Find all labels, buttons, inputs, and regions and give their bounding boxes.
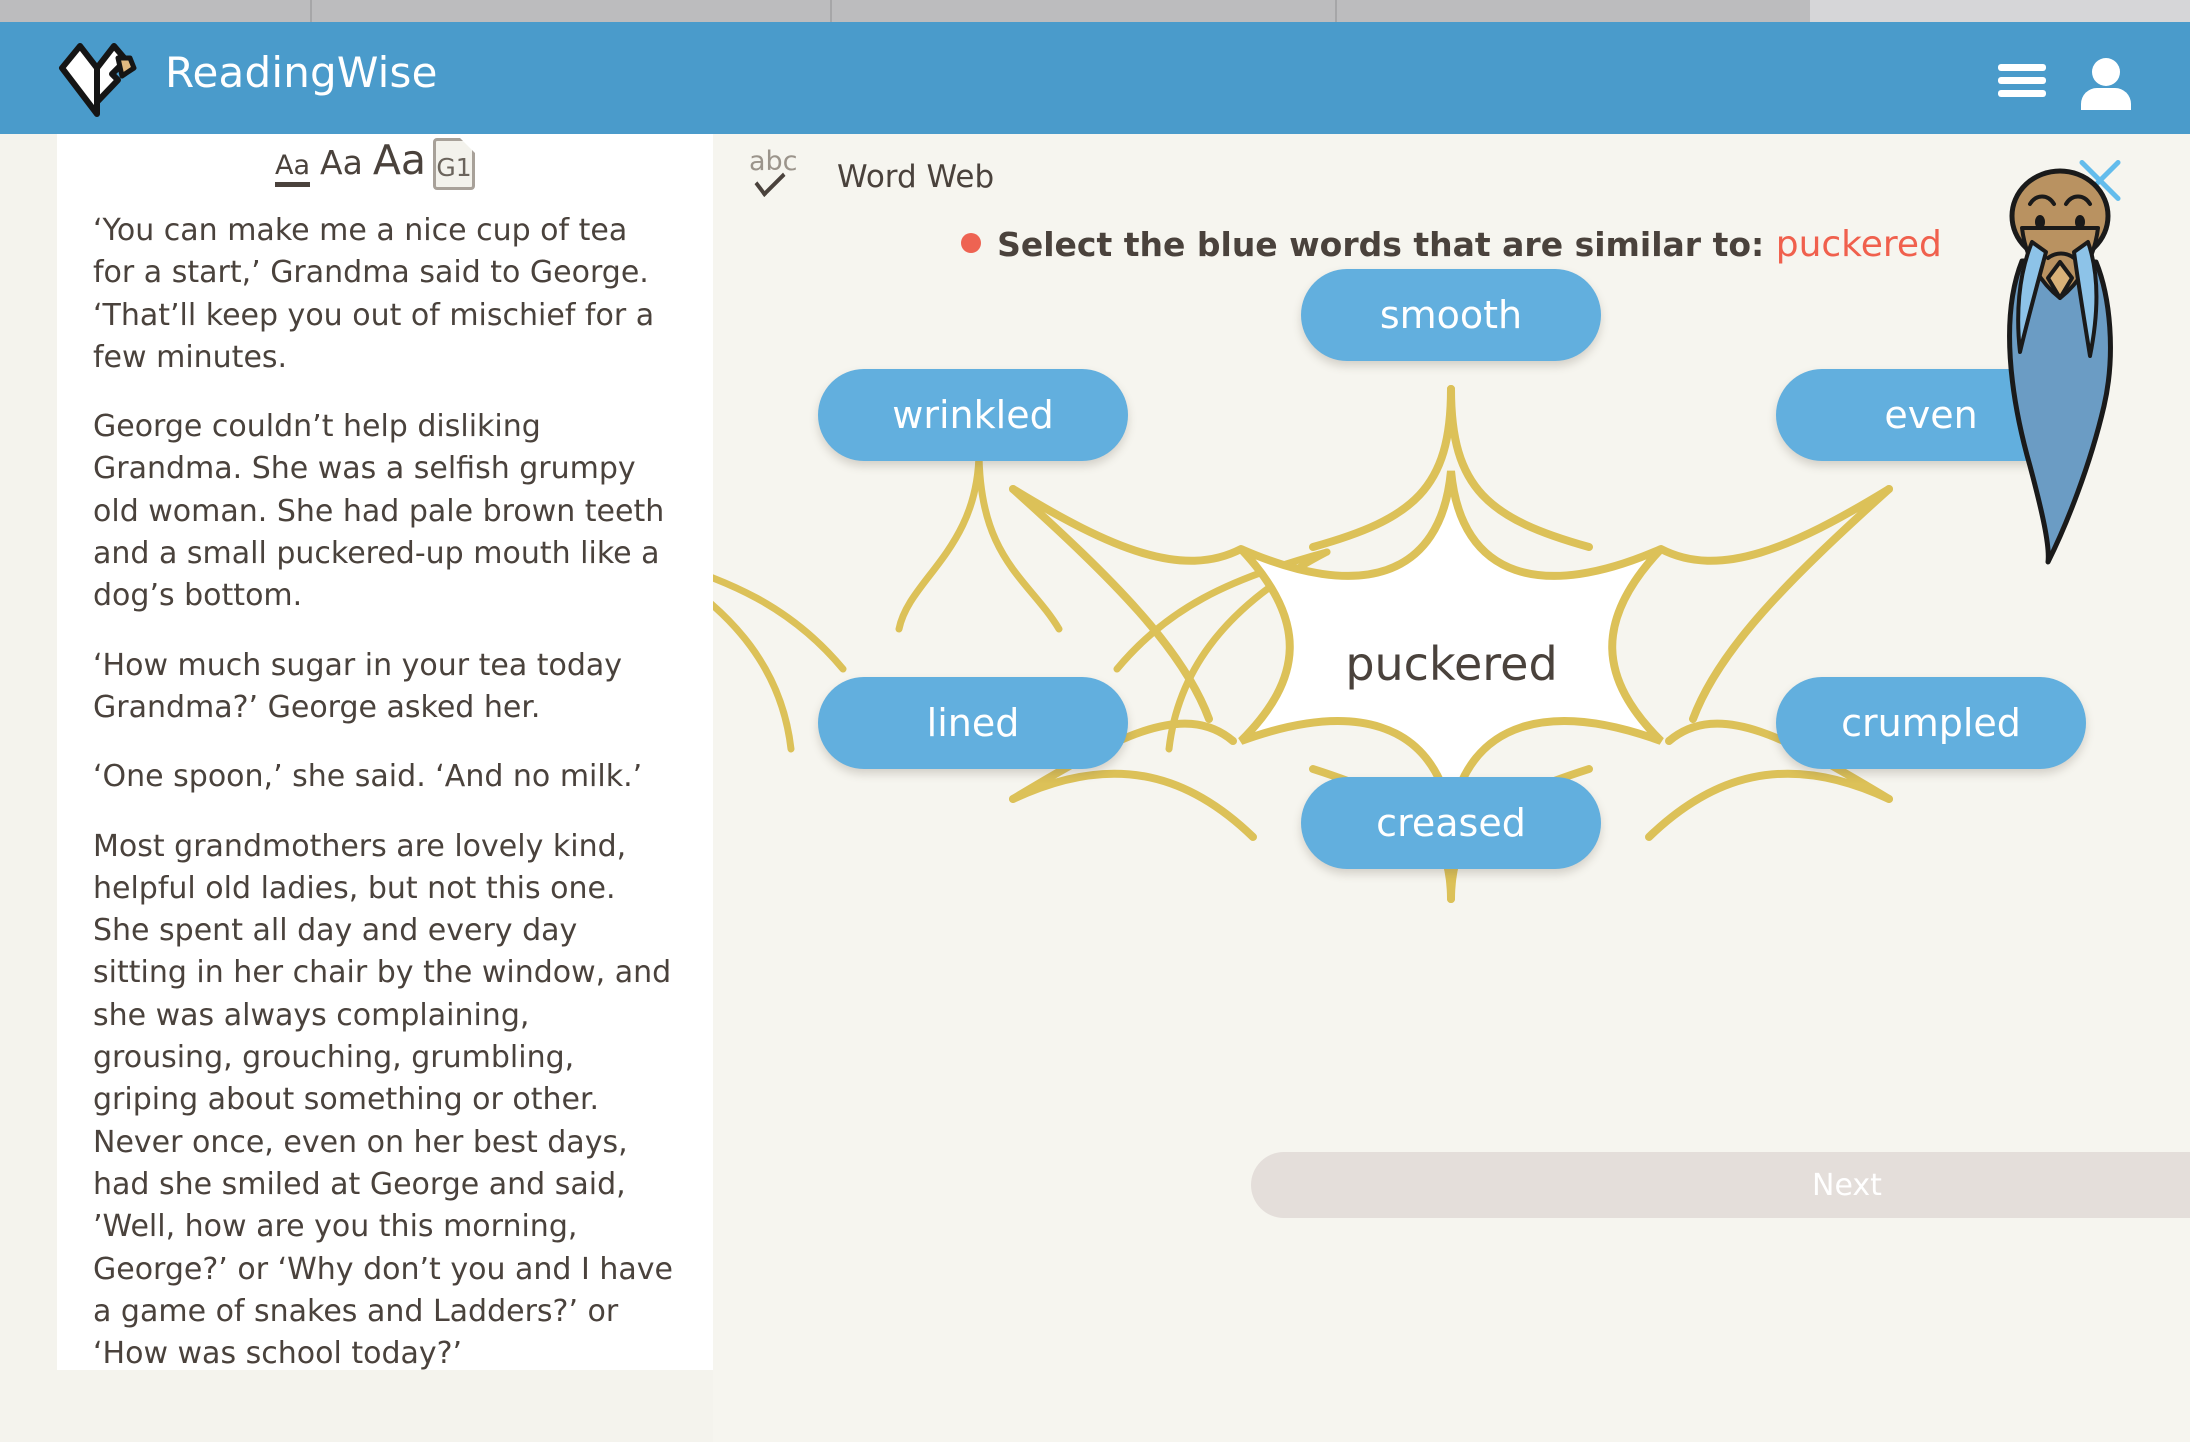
word-web-star (713, 249, 2190, 1009)
activity-header: abc Word Web (749, 146, 994, 208)
story-text: ‘You can make me a nice cup of tea for a… (57, 210, 713, 1375)
story-paragraph: George couldn’t help disliking Grandma. … (93, 406, 677, 617)
brand-title: ReadingWise (165, 48, 438, 97)
avatar-head (2092, 58, 2120, 86)
browser-tab-divider (310, 0, 312, 22)
story-paragraph: ‘You can make me a nice cup of tea for a… (93, 210, 677, 379)
reading-toolbar: Aa Aa Aa G1 (57, 134, 713, 210)
browser-tab-strip (0, 0, 2190, 22)
font-size-medium-button[interactable]: Aa (320, 146, 363, 179)
hamburger-bar (1998, 90, 2046, 97)
app-header: ReadingWise (0, 22, 2190, 134)
font-size-selector: Aa Aa Aa (275, 140, 426, 187)
word-option-creased[interactable]: creased (1301, 777, 1601, 869)
font-size-small-button[interactable]: Aa (275, 152, 310, 187)
word-option-lined[interactable]: lined (818, 677, 1128, 769)
hamburger-bar (1998, 64, 2046, 71)
hamburger-bar (1998, 77, 2046, 84)
browser-tab-active[interactable] (1810, 0, 2190, 22)
word-web: puckered smooth wrinkled even lined crum… (713, 249, 2190, 1009)
word-option-wrinkled[interactable]: wrinkled (818, 369, 1128, 461)
app-root: ReadingWise Aa Aa Aa G1 ‘You can make me (0, 0, 2190, 1442)
word-option-even[interactable]: even (1776, 369, 2086, 461)
hamburger-menu-icon[interactable] (1998, 64, 2046, 98)
story-paragraph: ‘How much sugar in your tea today Grandm… (93, 645, 677, 730)
avatar-body (2081, 88, 2131, 110)
browser-tab-divider (830, 0, 832, 22)
reading-panel: Aa Aa Aa G1 ‘You can make me a nice cup … (57, 134, 713, 1370)
document-page-icon[interactable]: G1 (433, 138, 475, 190)
activity-panel: abc Word Web Select the blue words that … (713, 134, 2190, 1442)
close-icon[interactable] (2070, 150, 2130, 210)
user-account-icon[interactable] (2078, 58, 2134, 108)
word-option-crumpled[interactable]: crumpled (1776, 677, 2086, 769)
font-size-large-button[interactable]: Aa (373, 140, 426, 181)
story-paragraph: ‘One spoon,’ she said. ‘And no milk.’ (93, 756, 677, 798)
page-fold-corner (460, 138, 475, 153)
spellcheck-abc-tick-icon: abc (749, 146, 811, 208)
activity-title: Word Web (837, 159, 994, 195)
story-paragraph: Most grandmothers are lovely kind, helpf… (93, 826, 677, 1376)
next-button[interactable]: Next (1251, 1152, 2190, 1218)
document-grade-label: G1 (436, 153, 472, 182)
readingwise-logo-icon[interactable] (56, 38, 138, 120)
word-option-smooth[interactable]: smooth (1301, 269, 1601, 361)
browser-tab-divider (1335, 0, 1337, 22)
